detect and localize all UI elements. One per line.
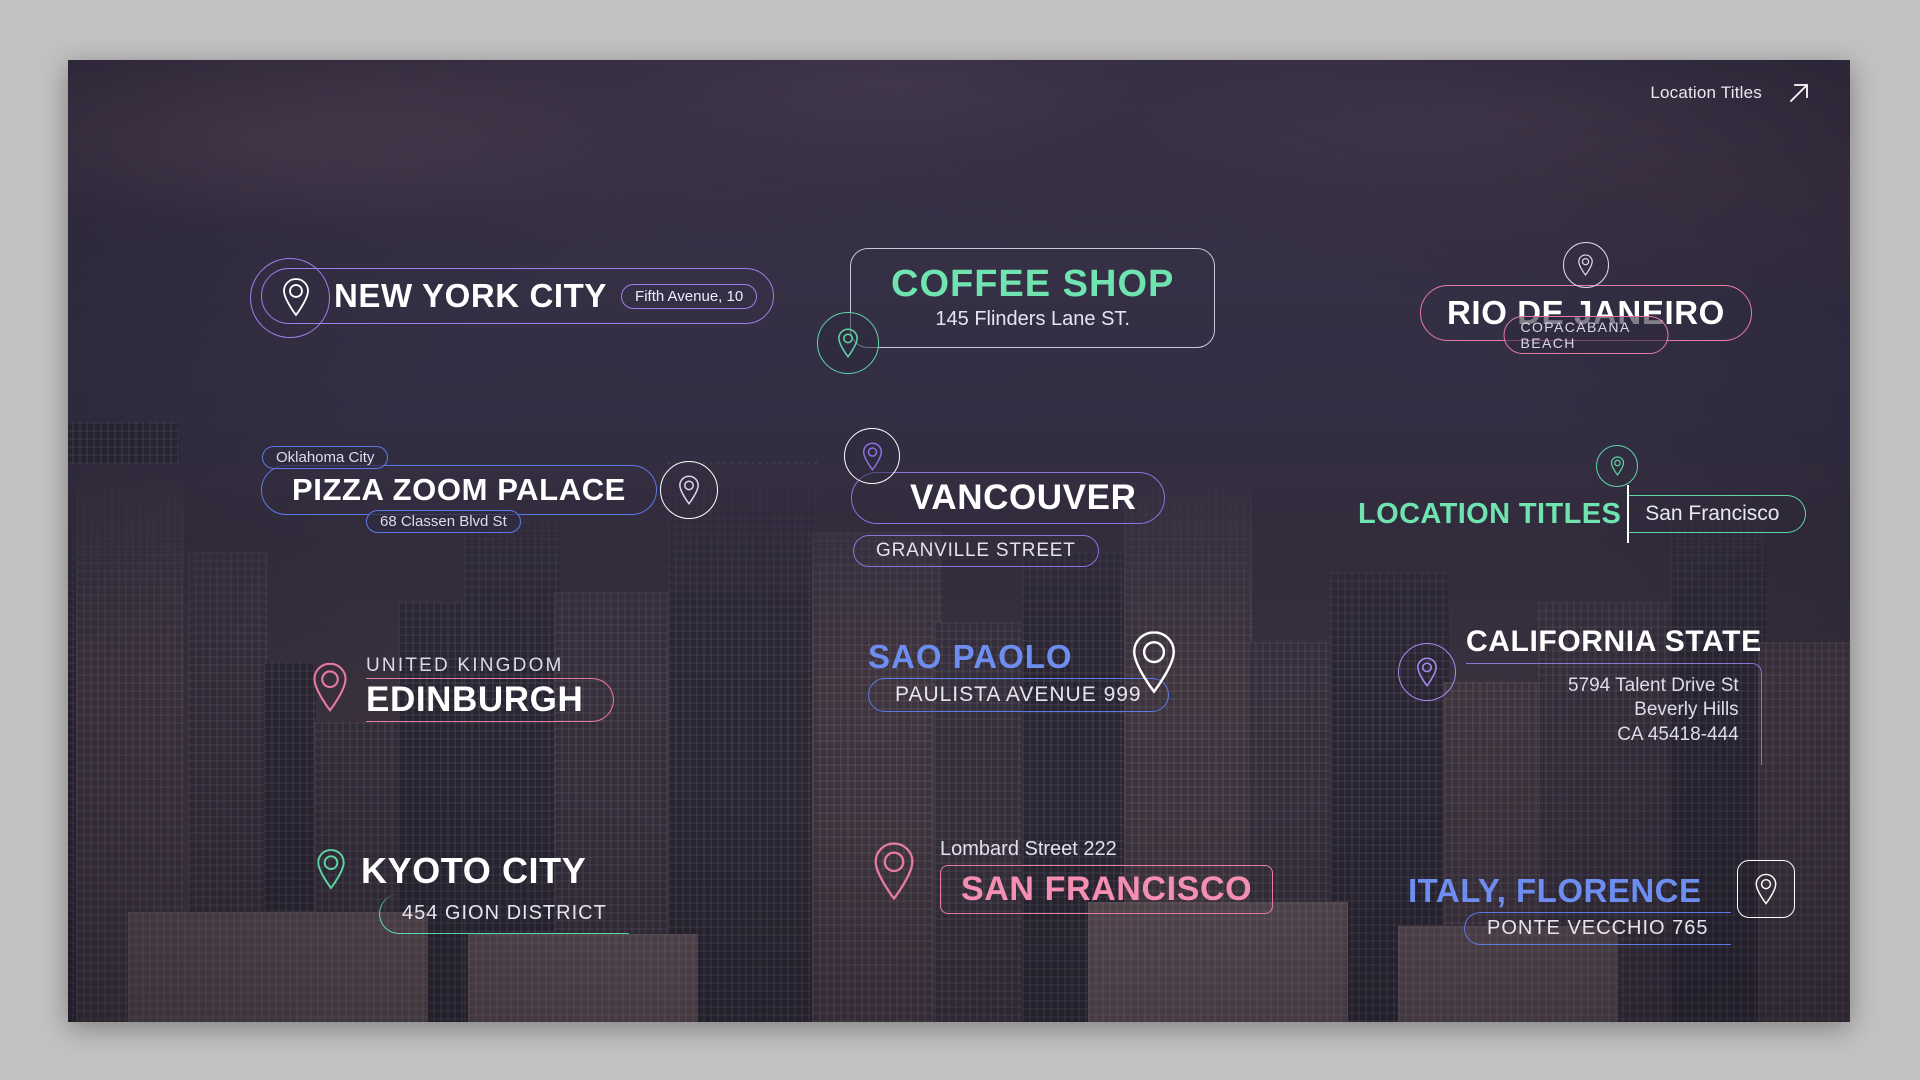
lower-third-sao-paolo[interactable]: SAO PAOLO PAULISTA AVENUE 999 (868, 638, 1169, 712)
lower-third-rio-de-janeiro[interactable]: RIO DE JANEIRO COPACABANA BEACH (1420, 285, 1752, 341)
address-line-2: Beverly Hills (1466, 698, 1739, 722)
address-text: 145 Flinders Lane ST. (891, 308, 1174, 331)
location-pin-icon (308, 659, 352, 715)
location-pin-icon (268, 269, 324, 325)
location-pin-icon (844, 428, 900, 484)
screenshot-stage: Location Titles NEW YORK CITY Fifth Aven… (0, 0, 1920, 1080)
location-pin-icon (1563, 242, 1609, 288)
video-preview-canvas[interactable]: Location Titles NEW YORK CITY Fifth Aven… (68, 60, 1850, 1022)
lower-third-italy-florence[interactable]: ITALY, FLORENCE PONTE VECCHIO 765 (1408, 872, 1731, 945)
address-text: PAULISTA AVENUE 999 (895, 683, 1142, 707)
lower-third-location-titles[interactable]: LOCATION TITLES San Francisco (1358, 485, 1806, 543)
district-text: 454 GION DISTRICT (402, 902, 607, 925)
address-text: PONTE VECCHIO 765 (1487, 917, 1709, 940)
lower-third-california-state[interactable]: CALIFORNIA STATE 5794 Talent Drive St Be… (1398, 625, 1762, 765)
location-pin-icon (1398, 643, 1456, 701)
lower-third-san-francisco[interactable]: Lombard Street 222 SAN FRANCISCO (868, 838, 1273, 914)
location-pin-icon (313, 846, 349, 892)
location-pin-icon (817, 312, 879, 374)
city-badge: Oklahoma City (262, 446, 388, 469)
location-pin-icon (1596, 445, 1638, 487)
title-text: CALIFORNIA STATE (1466, 625, 1762, 659)
title-text: NEW YORK CITY (334, 277, 607, 315)
title-text: LOCATION TITLES (1358, 498, 1621, 531)
location-pin-icon (1123, 623, 1185, 701)
place-badge: San Francisco (1629, 495, 1806, 533)
street-badge: GRANVILLE STREET (853, 535, 1099, 567)
title-text: KYOTO CITY (361, 850, 629, 892)
address-line-1: 5794 Talent Drive St (1466, 674, 1739, 698)
title-text: SAN FRANCISCO (961, 870, 1252, 909)
lower-third-edinburgh[interactable]: UNITED KINGDOM EDINBURGH (308, 655, 614, 722)
header-title: Location Titles (1650, 83, 1762, 103)
location-pin-icon (660, 461, 718, 519)
lower-third-vancouver[interactable]: VANCOUVER GRANVILLE STREET (851, 472, 1165, 524)
lower-third-new-york-city[interactable]: NEW YORK CITY Fifth Avenue, 10 (261, 268, 774, 324)
lower-third-kyoto-city[interactable]: KYOTO CITY 454 GION DISTRICT (313, 850, 629, 934)
header-bar: Location Titles (1650, 78, 1814, 108)
address-badge: COPACABANA BEACH (1503, 316, 1668, 354)
title-text: VANCOUVER (910, 478, 1136, 518)
address-line-3: CA 45418-444 (1466, 723, 1739, 747)
address-badge: Fifth Avenue, 10 (621, 284, 757, 309)
arrow-up-right-icon[interactable] (1784, 78, 1814, 108)
lower-third-pizza-zoom-palace[interactable]: Oklahoma City PIZZA ZOOM PALACE 68 Class… (261, 465, 657, 515)
location-pin-icon (868, 838, 920, 904)
title-text: PIZZA ZOOM PALACE (292, 472, 626, 508)
title-text: COFFEE SHOP (891, 263, 1174, 306)
title-text: EDINBURGH (366, 680, 583, 720)
lower-third-coffee-shop[interactable]: COFFEE SHOP 145 Flinders Lane ST. (850, 248, 1215, 348)
title-text: ITALY, FLORENCE (1408, 872, 1731, 910)
street-text: Lombard Street 222 (940, 838, 1273, 861)
location-pin-icon (1737, 860, 1795, 918)
country-text: UNITED KINGDOM (366, 655, 614, 677)
address-badge: 68 Classen Blvd St (366, 510, 521, 533)
